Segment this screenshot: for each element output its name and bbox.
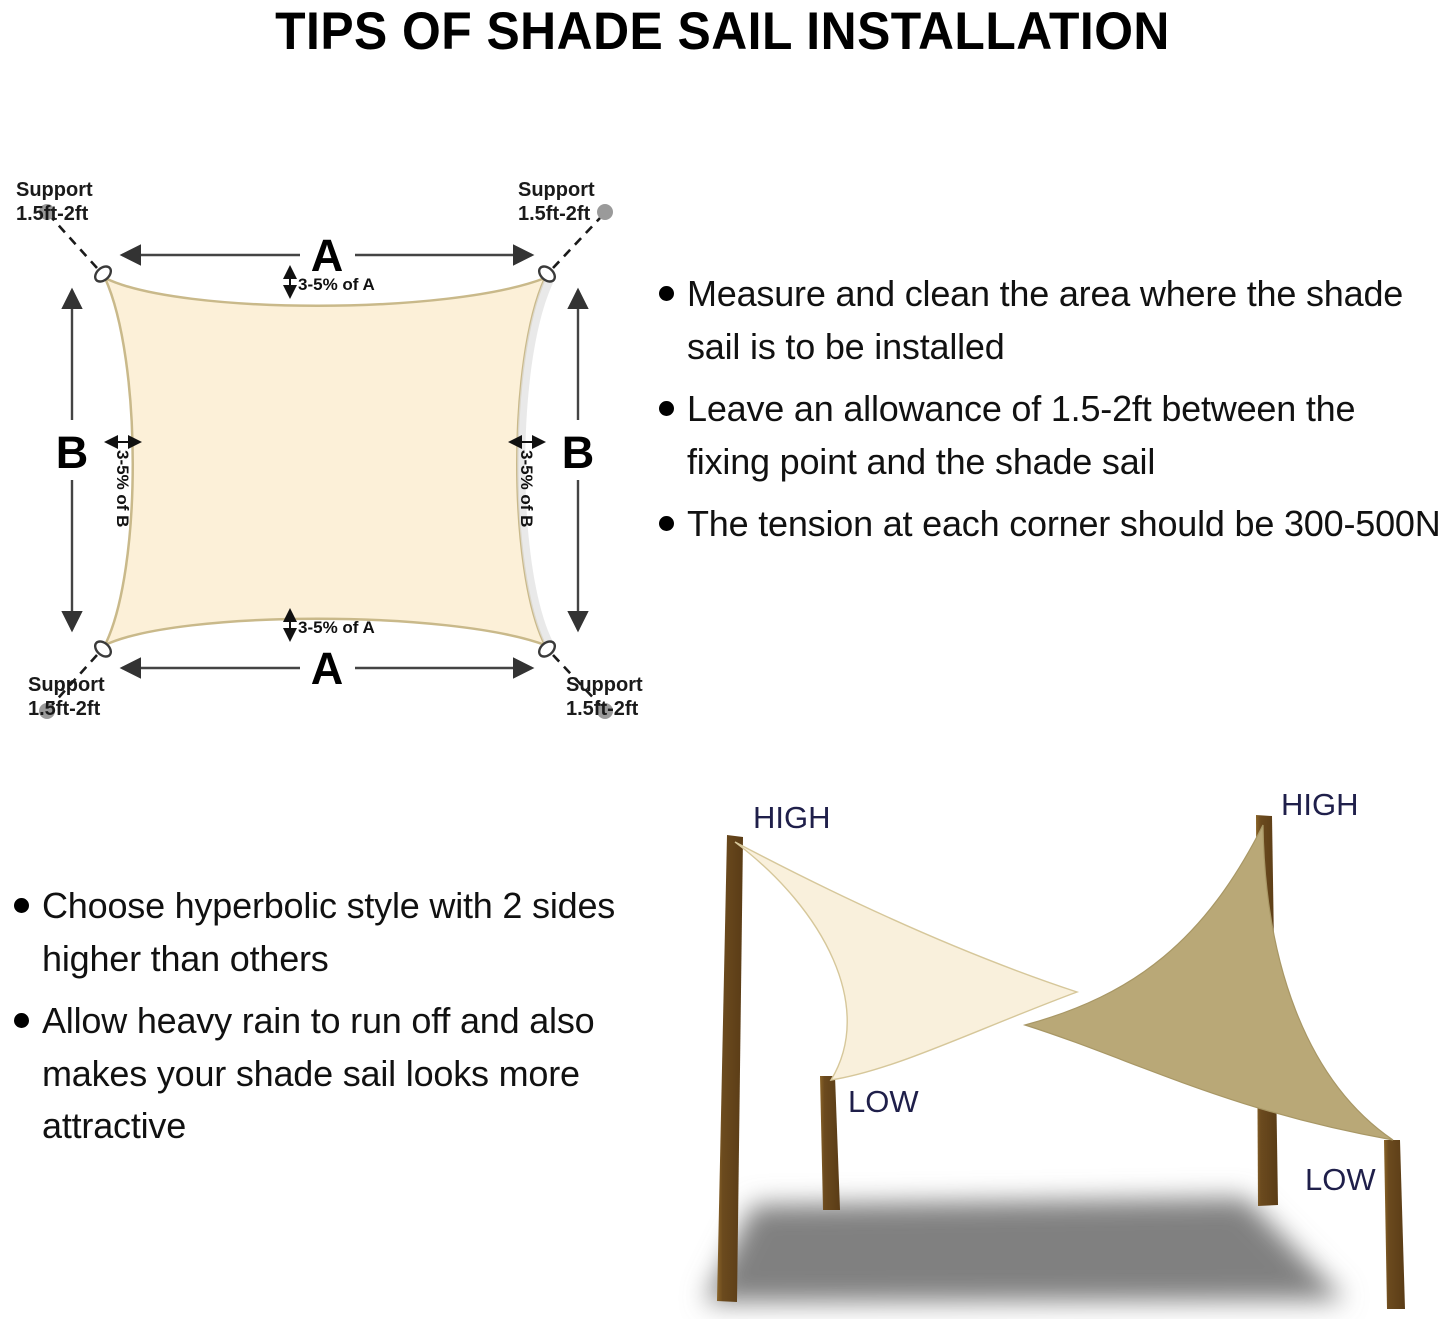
curvature-label-top: 3-5% of A [298, 275, 375, 294]
pole-left-high [717, 835, 743, 1302]
tips-lower-list: Choose hyperbolic style with 2 sides hig… [0, 880, 625, 1153]
support-label-top-right-line2: 1.5ft-2ft [518, 203, 591, 225]
support-label-bottom-left-line1: Support [28, 674, 105, 696]
tips-upper-list: Measure and clean the area where the sha… [645, 268, 1445, 551]
list-item: Measure and clean the area where the sha… [645, 268, 1445, 373]
installation-tips-upper-panel: Measure and clean the area where the sha… [645, 268, 1445, 648]
sail-rear-tan [1025, 825, 1393, 1140]
rect-sail-diagram-panel: Support 1.5ft-2ft Support 1.5ft-2ft Supp… [0, 150, 650, 730]
sail-label-right-low: LOW [1305, 1162, 1376, 1197]
support-label-top-right: Support 1.5ft-2ft [518, 179, 595, 225]
sail-shape [105, 278, 553, 645]
list-item: Leave an allowance of 1.5-2ft between th… [645, 383, 1445, 488]
support-label-top-left-line2: 1.5ft-2ft [16, 203, 89, 225]
ground-shadow [705, 1198, 1345, 1302]
pole-left-low [820, 1076, 840, 1210]
support-label-bottom-right-line2: 1.5ft-2ft [566, 698, 639, 720]
support-label-bottom-right-line1: Support [566, 674, 643, 696]
installation-tips-lower-panel: Choose hyperbolic style with 2 sides hig… [0, 880, 625, 1210]
pole-right-low [1384, 1140, 1405, 1309]
support-label-top-left-line1: Support [16, 179, 93, 201]
list-item: Allow heavy rain to run off and also mak… [0, 995, 625, 1153]
curvature-label-right: 3-5% of B [517, 450, 536, 527]
support-dot-top-right [597, 204, 613, 220]
support-label-bottom-left-line2: 1.5ft-2ft [28, 698, 101, 720]
support-label-top-left: Support 1.5ft-2ft [16, 179, 93, 225]
support-label-bottom-right: Support 1.5ft-2ft [566, 674, 643, 720]
tether-top-left [52, 218, 97, 268]
list-item: The tension at each corner should be 300… [645, 498, 1445, 551]
curvature-label-left: 3-5% of B [113, 450, 132, 527]
tether-top-right [553, 218, 600, 268]
sail-label-right-high: HIGH [1281, 787, 1359, 822]
sail-label-left-high: HIGH [753, 800, 831, 835]
sail-front-cream [735, 842, 1077, 1080]
dimension-label-b-left: B [56, 427, 89, 478]
dimension-label-b-right: B [562, 427, 595, 478]
curvature-label-bottom: 3-5% of A [298, 618, 375, 637]
support-label-top-right-line1: Support [518, 179, 595, 201]
sail-label-left-low: LOW [848, 1084, 919, 1119]
page-title: TIPS OF SHADE SAIL INSTALLATION [43, 0, 1401, 62]
support-label-bottom-left: Support 1.5ft-2ft [28, 674, 105, 720]
dimension-label-a-top: A [311, 230, 344, 281]
dimension-label-a-bottom: A [311, 643, 344, 694]
hyperbolic-sail-illustration-panel: HIGH HIGH LOW LOW [645, 780, 1445, 1319]
list-item: Choose hyperbolic style with 2 sides hig… [0, 880, 625, 985]
